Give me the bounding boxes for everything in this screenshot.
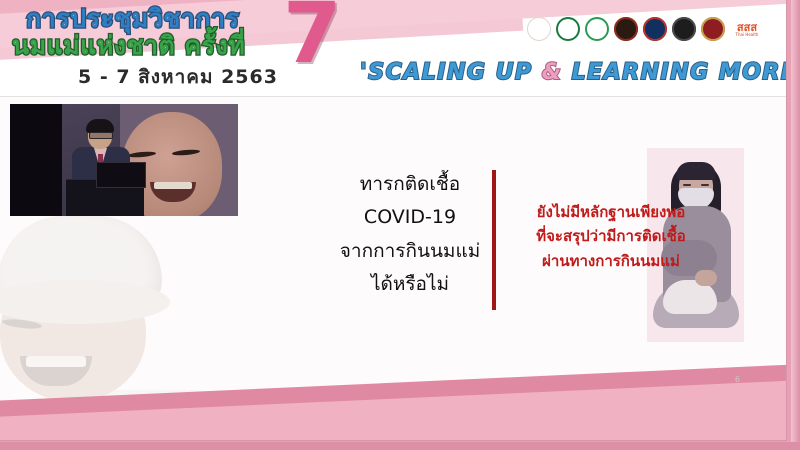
illustration-eye-left bbox=[683, 184, 691, 186]
question-text-block: ทารกติดเชื้อ COVID-19 จากการกินนมแม่ ได้… bbox=[330, 168, 490, 301]
tagline-part-before: 'SCALING UP bbox=[360, 60, 542, 85]
photo-dark-stage-area bbox=[10, 104, 62, 216]
speaker-glasses-icon bbox=[89, 132, 113, 139]
conference-title-line2: นมแม่แห่งชาติ ครั้งที่ bbox=[12, 33, 245, 58]
slide-number: 6 bbox=[735, 375, 740, 384]
watermark-child-teeth bbox=[26, 356, 86, 367]
red-shield-logo bbox=[701, 17, 725, 41]
answer-line-1: ยังไม่มีหลักฐานเพียงพอ bbox=[506, 200, 716, 224]
speaker-hair bbox=[86, 119, 114, 133]
thai-health-logo-text: สสส bbox=[737, 22, 757, 33]
question-line-4: ได้หรือไม่ bbox=[330, 268, 490, 301]
illustration-hair-front bbox=[676, 162, 716, 180]
question-line-3: จากการกินนมแม่ bbox=[330, 235, 490, 268]
royal-emblem-logo bbox=[643, 17, 667, 41]
slide-frame-bottom-edge bbox=[0, 442, 800, 450]
conference-date: 5 - 7 สิงหาคม 2563 bbox=[78, 62, 278, 92]
header-divider-line bbox=[0, 96, 786, 97]
thai-health-logo-subtext: Thai Health bbox=[736, 33, 759, 37]
health-dept-logo bbox=[585, 17, 609, 41]
garuda-seal-logo bbox=[672, 17, 696, 41]
thai-health-logo: สสส Thai Health bbox=[730, 17, 764, 41]
slide-canvas: การประชุมวิชาการ นมแม่แห่งชาติ ครั้งที่ … bbox=[0, 0, 800, 450]
conference-title-line1: การประชุมวิชาการ bbox=[26, 6, 239, 31]
laptop bbox=[96, 162, 146, 188]
vertical-red-divider bbox=[492, 170, 496, 310]
answer-text-block: ยังไม่มีหลักฐานเพียงพอ ที่จะสรุปว่ามีการ… bbox=[506, 200, 716, 273]
slide-page: การประชุมวิชาการ นมแม่แห่งชาติ ครั้งที่ … bbox=[0, 0, 786, 440]
baby-teeth bbox=[154, 182, 192, 189]
royal-crown-logo bbox=[614, 17, 638, 41]
answer-line-3: ผ่านทางการกินนมแม่ bbox=[506, 249, 716, 273]
slide-frame-right-edge bbox=[791, 0, 800, 450]
speaker-photo bbox=[10, 104, 238, 216]
tagline-ampersand: & bbox=[542, 60, 563, 85]
illustration-eye-right bbox=[701, 184, 709, 186]
question-line-2: COVID-19 bbox=[330, 201, 490, 234]
ministry-public-health-logo bbox=[556, 17, 580, 41]
conference-tagline: 'SCALING UP & LEARNING MORE' bbox=[360, 60, 786, 85]
child-watermark-image bbox=[0, 214, 244, 414]
slide-header: การประชุมวิชาการ นมแม่แห่งชาติ ครั้งที่ … bbox=[0, 0, 786, 97]
conference-edition-number: 7 bbox=[283, 0, 339, 75]
answer-line-2: ที่จะสรุปว่ามีการติดเชื้อ bbox=[506, 224, 716, 248]
organizer-logo-strip: สสส Thai Health bbox=[527, 17, 764, 41]
question-line-1: ทารกติดเชื้อ bbox=[330, 168, 490, 201]
royal-seal-logo bbox=[527, 17, 551, 41]
tagline-part-after: LEARNING MORE' bbox=[562, 60, 786, 85]
